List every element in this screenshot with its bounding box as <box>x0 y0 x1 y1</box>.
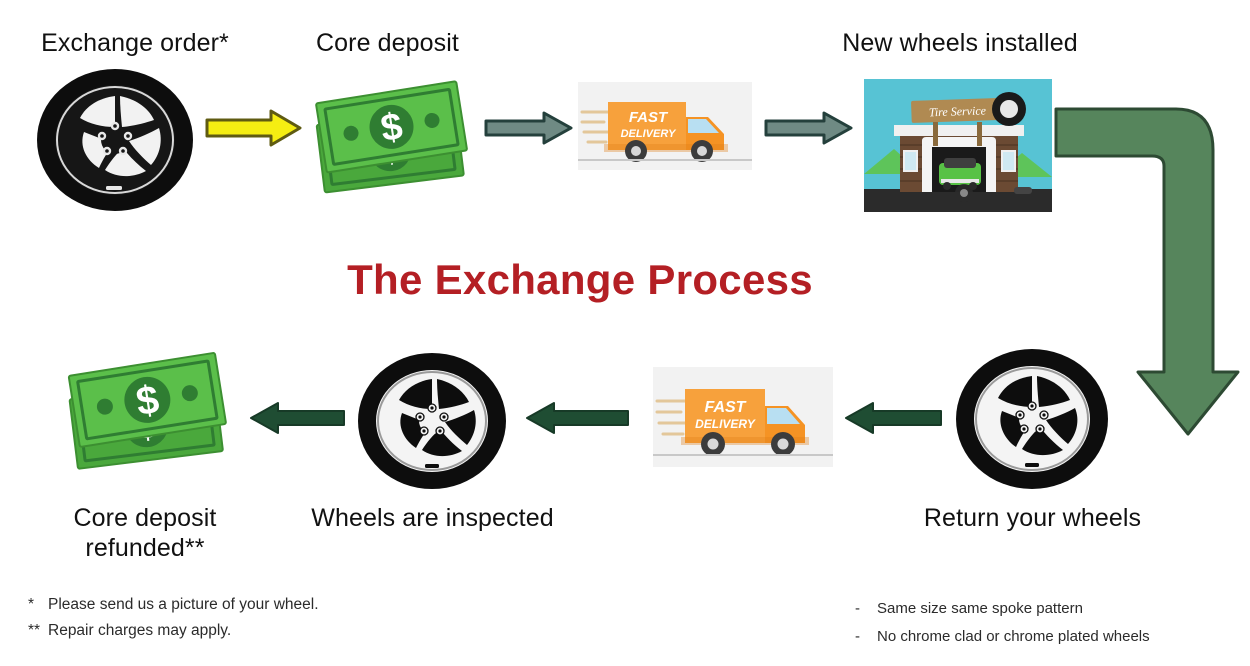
label-core-deposit-refunded: Core deposit refunded** <box>20 503 270 563</box>
arrow-deposit-to-shipping <box>484 110 574 146</box>
bullet-marker: - <box>855 595 877 623</box>
tire-shop-icon: Tire Service <box>864 79 1052 212</box>
footnote-marker: * <box>28 592 48 618</box>
money-icon-top: $ $ <box>305 78 477 203</box>
footnote-text: Repair charges may apply. <box>48 622 231 639</box>
label-core-deposit: Core deposit <box>280 28 495 58</box>
truck-text-fast: FAST <box>629 109 669 126</box>
wheel-light-icon-return <box>955 348 1110 490</box>
bullet-right-2: -No chrome clad or chrome plated wheels <box>855 623 1150 651</box>
label-return-your-wheels: Return your wheels <box>895 503 1170 533</box>
money-icon-bottom: $ $ <box>58 350 236 480</box>
page-title: The Exchange Process <box>0 256 1160 304</box>
bullet-right-1: -Same size same spoke pattern <box>855 595 1150 623</box>
label-line-1: Core deposit <box>20 503 270 533</box>
arrow-shipping-to-install <box>764 110 854 146</box>
truck-text-fast: FAST <box>705 399 747 416</box>
truck-text-delivery: DELIVERY <box>695 417 756 431</box>
footnotes-left: *Please send us a picture of your wheel.… <box>28 592 319 644</box>
delivery-truck-icon-bottom: FAST DELIVERY <box>653 367 833 467</box>
bullet-marker: - <box>855 623 877 651</box>
bullet-text: Same size same spoke pattern <box>877 600 1083 617</box>
footnote-marker: ** <box>28 618 48 644</box>
label-new-wheels-installed: New wheels installed <box>805 28 1115 58</box>
footnote-text: Please send us a picture of your wheel. <box>48 596 319 613</box>
shop-sign-text: Tire Service <box>929 103 987 119</box>
bullet-text: No chrome clad or chrome plated wheels <box>877 628 1150 645</box>
wheel-dark-icon <box>36 68 194 213</box>
delivery-truck-icon-top: FAST DELIVERY <box>578 82 752 170</box>
wheel-light-icon-inspected <box>357 352 507 490</box>
label-wheels-are-inspected: Wheels are inspected <box>300 503 565 533</box>
footnote-left-1: *Please send us a picture of your wheel. <box>28 592 319 618</box>
exchange-process-infographic: Exchange order* Core deposit New wheels … <box>0 0 1250 666</box>
label-line-2: refunded** <box>20 533 270 563</box>
label-exchange-order: Exchange order* <box>10 28 260 58</box>
arrow-inspect-to-refund <box>248 400 346 436</box>
footnote-left-2: **Repair charges may apply. <box>28 618 319 644</box>
footnotes-right: -Same size same spoke pattern -No chrome… <box>855 595 1150 651</box>
truck-text-delivery: DELIVERY <box>621 128 677 140</box>
arrow-order-to-deposit <box>205 108 303 148</box>
arrow-return-to-shipping <box>843 400 943 436</box>
arrow-shipping-to-inspect <box>524 400 630 436</box>
